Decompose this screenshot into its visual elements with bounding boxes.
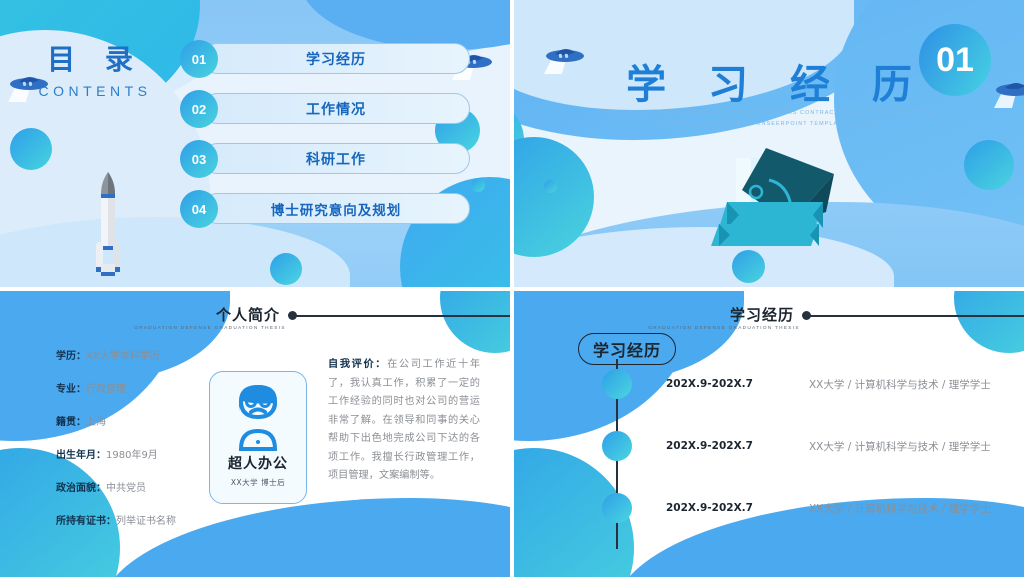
decor-sphere — [270, 253, 302, 285]
profile-field-label: 所持有证书： — [56, 516, 116, 527]
slide-section-title[interactable]: 01 学 习 经 历 CONTRACTED WIND POWERPOINT TE… — [514, 0, 1024, 287]
page-subtitle: GRADUATION DEFENSE GRADUATION THESIS — [634, 325, 814, 330]
profile-field: 所持有证书：列举证书名称 — [56, 516, 226, 528]
contents-item-pill[interactable]: 学习经历 — [202, 43, 470, 74]
profile-card-name: 超人办公 — [228, 453, 288, 473]
timeline-description: XX大学 / 计算机科学与技术 / 理学学士 — [809, 377, 991, 392]
contents-item-label: 科研工作 — [306, 149, 366, 169]
profile-field-list: 学历：XX大学本科学历 专业：行政管理 籍贯：上海 出生年月：1980年9月 政… — [56, 351, 226, 549]
page-title: 学习经历 — [654, 304, 794, 325]
contents-item[interactable]: 科研工作 03 — [180, 140, 500, 178]
decor-sphere — [544, 180, 557, 193]
contents-item-label: 工作情况 — [306, 99, 366, 119]
education-pill-title: 学习经历 — [578, 333, 676, 365]
profile-field: 出生年月：1980年9月 — [56, 450, 226, 462]
profile-field-label: 出生年月： — [56, 450, 106, 461]
contents-item-label: 博士研究意向及规划 — [271, 199, 402, 219]
timeline-description: XX大学 / 计算机科学与技术 / 理学学士 — [809, 439, 991, 454]
timeline-item[interactable]: 202X.9-202X.7 XX大学 / 计算机科学与技术 / 理学学士 — [602, 493, 991, 523]
profile-field-value: 1980年9月 — [106, 450, 158, 461]
slide-preview-grid: 目 录 CONTENTS 学习经历 01 工作情况 02 科研工作 03 — [0, 0, 1024, 577]
timeline-date: 202X.9-202X.7 — [666, 440, 753, 452]
slide-education[interactable]: 学习经历 GRADUATION DEFENSE GRADUATION THESI… — [514, 291, 1024, 577]
contents-item[interactable]: 学习经历 01 — [180, 40, 500, 78]
timeline-dot-icon — [602, 493, 632, 523]
decor-sphere — [732, 250, 765, 283]
avatar-icon — [227, 379, 289, 451]
contents-item-number: 01 — [180, 40, 218, 78]
slide-contents[interactable]: 目 录 CONTENTS 学习经历 01 工作情况 02 科研工作 03 — [0, 0, 510, 287]
timeline-description: XX大学 / 计算机科学与技术 / 理学学士 — [809, 501, 991, 516]
timeline-date: 202X.9-202X.7 — [666, 502, 753, 514]
page-subtitle: GRADUATION DEFENSE GRADUATION THESIS — [120, 325, 300, 330]
contents-item[interactable]: 博士研究意向及规划 04 — [180, 190, 500, 228]
contents-item-number: 03 — [180, 140, 218, 178]
decor-sphere — [10, 128, 52, 170]
profile-field-label: 专业： — [56, 384, 86, 395]
contents-list: 学习经历 01 工作情况 02 科研工作 03 博士研究意向及规划 — [180, 40, 500, 240]
contents-title-block: 目 录 CONTENTS — [20, 38, 170, 99]
contents-item-pill[interactable]: 工作情况 — [202, 93, 470, 124]
contents-item[interactable]: 工作情况 02 — [180, 90, 500, 128]
contents-title-en: CONTENTS — [20, 83, 170, 99]
header-rule — [292, 315, 510, 317]
profile-field: 籍贯：上海 — [56, 417, 226, 429]
profile-field: 专业：行政管理 — [56, 384, 226, 396]
self-evaluation-text: 在公司工作近十年了，我认真工作，积累了一定的工作经验的同时也对公司的营运非常了解… — [328, 359, 480, 481]
contents-title-cn: 目 录 — [20, 38, 170, 78]
decor-sphere — [964, 140, 1014, 190]
contents-item-label: 学习经历 — [306, 49, 366, 69]
profile-field: 学历：XX大学本科学历 — [56, 351, 226, 363]
profile-field-value: 列举证书名称 — [116, 516, 176, 527]
timeline-item[interactable]: 202X.9-202X.7 XX大学 / 计算机科学与技术 / 理学学士 — [602, 369, 991, 399]
timeline-dot-icon — [602, 369, 632, 399]
contents-item-number: 02 — [180, 90, 218, 128]
timeline-item[interactable]: 202X.9-202X.7 XX大学 / 计算机科学与技术 / 理学学士 — [602, 431, 991, 461]
profile-field-value: 上海 — [86, 417, 106, 428]
self-evaluation-label: 自我评价： — [328, 359, 387, 370]
timeline-dot-icon — [602, 431, 632, 461]
page-title: 个人简介 — [140, 304, 280, 325]
profile-card-sub: XX大学 博士后 — [231, 477, 285, 488]
header-rule — [806, 315, 1024, 317]
section-title: 学 习 经 历 — [514, 52, 1024, 110]
profile-field-value: 行政管理 — [86, 384, 126, 395]
profile-id-card: 超人办公 XX大学 博士后 — [209, 371, 307, 504]
profile-field-value: 中共党员 — [106, 483, 146, 494]
contents-item-pill[interactable]: 科研工作 — [202, 143, 470, 174]
section-subtitle-line1: CONTRACTED WIND POWERPOINT TEMPLATE DESI… — [584, 108, 954, 119]
section-header: 个人简介 GRADUATION DEFENSE GRADUATION THESI… — [0, 305, 510, 339]
self-evaluation-block: 自我评价：在公司工作近十年了，我认真工作，积累了一定的工作经验的同时也对公司的营… — [328, 356, 480, 486]
profile-field: 政治面貌：中共党员 — [56, 483, 226, 495]
timeline-date: 202X.9-202X.7 — [666, 378, 753, 390]
section-subtitle-line2: TRAINING GRADUATION DEFENSEERPOINT TEMPL… — [584, 119, 954, 130]
contents-item-pill[interactable]: 博士研究意向及规划 — [202, 193, 470, 224]
graduation-cap-illustration — [694, 140, 844, 250]
rocket-icon — [95, 168, 121, 280]
contents-item-number: 04 — [180, 190, 218, 228]
profile-field-label: 学历： — [56, 351, 86, 362]
profile-field-label: 籍贯： — [56, 417, 86, 428]
profile-field-value: XX大学本科学历 — [86, 351, 160, 362]
section-subtitle: CONTRACTED WIND POWERPOINT TEMPLATE DESI… — [584, 108, 954, 131]
profile-field-label: 政治面貌： — [56, 483, 106, 494]
